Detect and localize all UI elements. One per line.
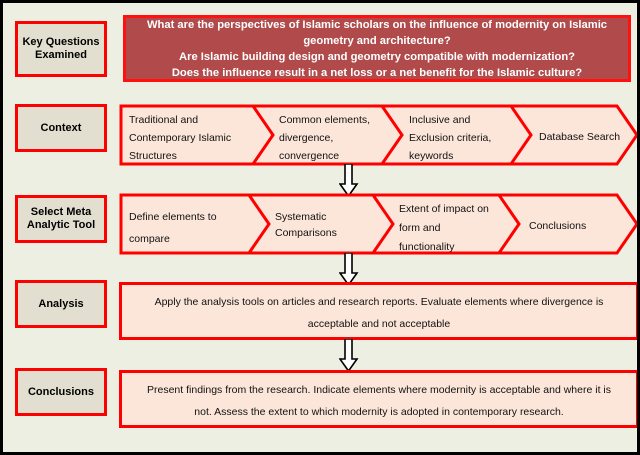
tool-step-4-line1: Conclusions [529,220,586,232]
context-step-4-line1: Database Search [539,131,620,143]
tool-step-1-line2: compare [129,233,170,245]
question-line-2: geometry and architecture? [303,33,450,49]
conclusions-line-1: Present findings from the research. Indi… [136,379,622,401]
conclusions-line-2: not. Assess the extent to which modernit… [136,401,622,423]
stage-label-line1: Select Meta [31,206,92,218]
context-step-3-line3: keywords [409,150,453,162]
stage-label-line2: Analytic Tool [27,219,95,231]
stage-label-context: Context [15,104,107,152]
analysis-line-2: acceptable and not acceptable [136,313,622,335]
tool-step-2-line1: Systematic [275,211,326,223]
question-banner: What are the perspectives of Islamic sch… [123,15,631,82]
stage-label-select-meta-analytic-tool: Select Meta Analytic Tool [15,195,107,243]
connector-analysis-to-conclusions [339,339,359,372]
context-step-2-line2: divergence, [279,132,333,144]
stage-label-line1: Conclusions [28,386,94,398]
stage-label-analysis: Analysis [15,280,107,328]
analysis-text-box: Apply the analysis tools on articles and… [119,282,639,340]
context-step-1-line3: Structures [129,150,177,162]
context-step-3-line2: Exclusion criteria, [409,132,491,144]
context-chevron-band: Traditional and Contemporary Islamic Str… [119,104,639,166]
context-step-2-line1: Common elements, [279,114,370,126]
stage-label-line1: Key Questions [22,36,99,48]
analysis-line-1: Apply the analysis tools on articles and… [136,291,622,313]
tool-step-3-line3: functionality [399,241,455,253]
context-step-3-line1: Inclusive and [409,114,470,126]
context-step-2-line3: convergence [279,150,339,162]
tool-step-3-line1: Extent of impact on [399,203,489,215]
tool-step-1-line1: Define elements to [129,211,217,223]
stage-label-key-questions: Key Questions Examined [15,21,107,77]
question-line-4: Does the influence result in a net loss … [172,65,582,81]
stage-label-line2: Examined [35,49,87,61]
stage-label-line1: Context [41,122,82,134]
conclusions-text-box: Present findings from the research. Indi… [119,370,639,428]
tool-step-2-line2: Comparisons [275,227,337,239]
question-line-3: Are Islamic building design and geometry… [179,49,575,65]
question-line-1: What are the perspectives of Islamic sch… [147,17,607,33]
context-step-1-line2: Contemporary Islamic [129,132,231,144]
context-step-1-line1: Traditional and [129,114,198,126]
flowchart-canvas: Key Questions Examined What are the pers… [0,0,640,455]
tool-step-3-line2: form and [399,222,441,234]
stage-label-conclusions: Conclusions [15,368,107,416]
tool-chevron-band: Define elements to compare Systematic Co… [119,193,639,255]
stage-label-line1: Analysis [38,298,83,310]
